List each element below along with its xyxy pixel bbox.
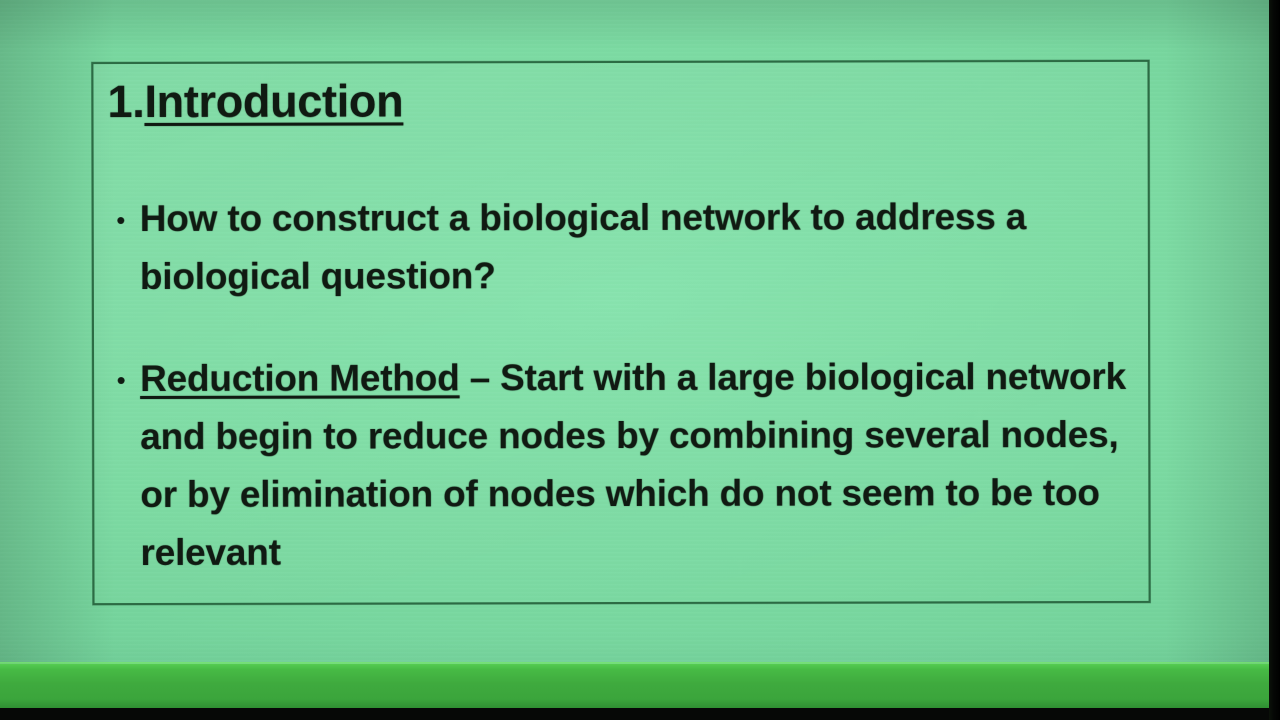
letterbox-right-edge bbox=[1269, 0, 1280, 720]
bullet-list: • How to construct a biological network … bbox=[102, 188, 1137, 626]
list-item: • How to construct a biological network … bbox=[102, 188, 1136, 306]
letterbox-bottom-edge bbox=[0, 708, 1280, 720]
list-item-text: How to construct a biological network to… bbox=[140, 188, 1136, 306]
bullet-dot-icon: • bbox=[102, 350, 140, 410]
page-title: 1.Introduction bbox=[107, 75, 403, 128]
title-number: 1. bbox=[107, 76, 144, 127]
list-item: • Reduction Method – Start with a large … bbox=[102, 348, 1136, 582]
slide-content-frame: 1.Introduction • How to construct a biol… bbox=[91, 60, 1150, 605]
list-item-lead-term: Reduction Method bbox=[140, 357, 460, 399]
presentation-slide: 1.Introduction • How to construct a biol… bbox=[0, 0, 1280, 720]
bottom-green-band bbox=[0, 664, 1280, 708]
list-item-body: How to construct a biological network to… bbox=[140, 196, 1026, 297]
bullet-dot-icon: • bbox=[102, 190, 140, 250]
title-text: Introduction bbox=[144, 75, 403, 127]
list-item-text: Reduction Method – Start with a large bi… bbox=[140, 348, 1136, 582]
